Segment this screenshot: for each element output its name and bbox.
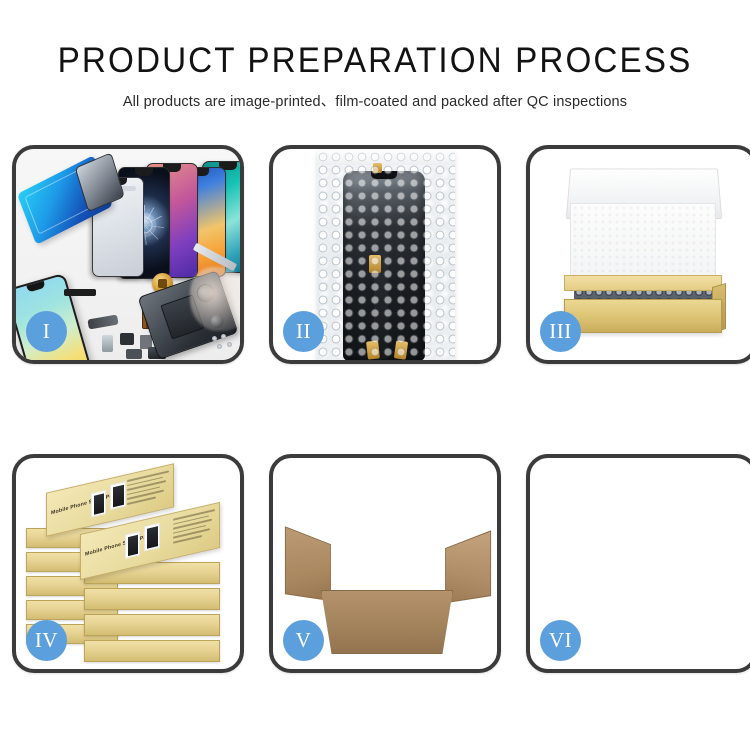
process-step-panel-2: II — [269, 145, 501, 364]
gold-contact-2 — [394, 340, 408, 359]
gold-contact-1 — [366, 340, 380, 359]
earpiece-mesh-icon — [64, 289, 96, 296]
process-step-panel-1: I — [12, 145, 244, 364]
process-step-grid: I II — [12, 145, 738, 673]
gold-contact-4 — [373, 163, 382, 173]
step-badge-6: VI — [540, 620, 581, 661]
page-subtitle: All products are image-printed、film-coat… — [0, 90, 750, 111]
bubble-wrap-bag-icon — [317, 151, 455, 360]
label-phone-image-3 — [125, 531, 140, 558]
box-inner-lip — [564, 275, 722, 291]
step-badge-1: I — [26, 311, 67, 352]
stacked-box-r4 — [84, 640, 220, 662]
bag-seam — [317, 151, 455, 165]
page-title: PRODUCT PREPARATION PROCESS — [19, 41, 732, 81]
step-badge-4: IV — [26, 620, 67, 661]
connector-icon — [126, 349, 142, 359]
process-step-panel-4: Mobile Phone Spare Parts Mobile Phone Sp… — [12, 454, 244, 673]
sim-tray-icon — [102, 335, 113, 352]
label-phone-image-2 — [110, 481, 126, 510]
open-carton-icon — [295, 482, 479, 656]
process-step-panel-6: VI — [526, 454, 750, 673]
process-step-panel-3: III — [526, 145, 750, 364]
lcd-screen-assembly-icon — [343, 171, 425, 360]
small-chip-a-icon — [120, 333, 134, 345]
label-feature-list-second — [173, 509, 215, 546]
step-badge-5: V — [283, 620, 324, 661]
stacked-box-r2 — [84, 588, 220, 610]
foam-sheet-icon — [570, 203, 716, 279]
label-phone-image-1 — [91, 490, 106, 517]
step-badge-3: III — [540, 311, 581, 352]
stacked-box-r3 — [84, 614, 220, 636]
carton-body — [321, 590, 453, 654]
label-feature-list-top — [127, 470, 169, 507]
open-mailer-box-icon — [554, 167, 732, 343]
process-step-panel-5: V — [269, 454, 501, 673]
technician-hand-icon — [190, 267, 240, 331]
page-root: PRODUCT PREPARATION PROCESS All products… — [0, 0, 750, 750]
box-front-panel — [564, 299, 722, 333]
header: PRODUCT PREPARATION PROCESS All products… — [0, 0, 750, 111]
label-phone-image-4 — [144, 523, 160, 552]
screws-group-icon — [212, 334, 236, 352]
gold-contact-3 — [369, 255, 381, 273]
step-badge-2: II — [283, 311, 324, 352]
